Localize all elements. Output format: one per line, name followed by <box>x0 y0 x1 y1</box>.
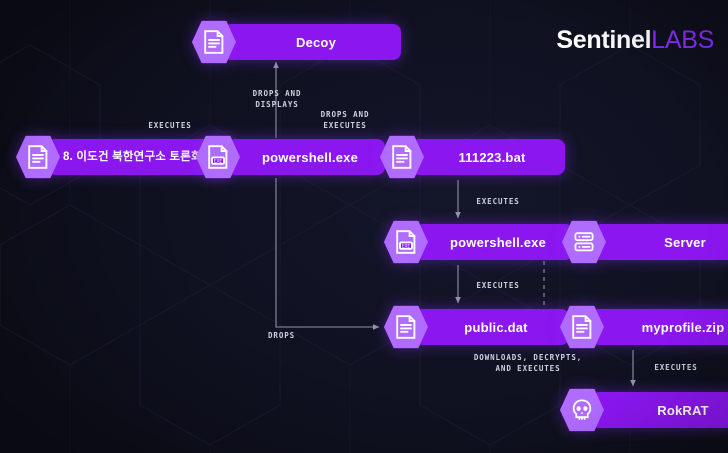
edge-label-executes-4: EXECUTES <box>646 362 706 373</box>
node-powershell-2[interactable]: EXE powershell.exe <box>384 222 573 262</box>
node-powershell-2-label: powershell.exe <box>415 224 573 260</box>
edge-label-downloads-decrypts-executes: DOWNLOADS, DECRYPTS, AND EXECUTES <box>464 352 592 374</box>
node-public-dat[interactable]: public.dat <box>384 307 569 347</box>
diagram-canvas: Decoy 8. 이도건 북한연 구소 토론회.lnk EXE powershe… <box>0 0 728 453</box>
sentinel-labs-logo: SentinelLABS <box>556 26 714 55</box>
logo-labs-text: LABS <box>651 26 714 54</box>
edge-label-executes-1: EXECUTES <box>140 120 200 131</box>
node-myprofile-zip[interactable]: myprofile.zip <box>560 307 728 347</box>
node-powershell-1-label: powershell.exe <box>227 139 385 175</box>
edge-label-drops: DROPS <box>268 330 312 341</box>
node-powershell-1[interactable]: EXE powershell.exe <box>196 137 385 177</box>
logo-sentinel-text: Sentinel <box>556 26 651 54</box>
node-111223-bat-label: 111223.bat <box>411 139 565 175</box>
node-server[interactable]: Server <box>562 222 728 262</box>
edge-label-drops-and-executes: DROPS AND EXECUTES <box>312 109 378 131</box>
node-rokrat-label: RokRAT <box>591 392 728 428</box>
edge-label-executes-2: EXECUTES <box>468 196 528 207</box>
node-decoy[interactable]: Decoy <box>192 22 401 62</box>
node-myprofile-zip-label: myprofile.zip <box>591 309 728 345</box>
node-111223-bat[interactable]: 111223.bat <box>380 137 565 177</box>
node-server-label: Server <box>593 224 728 260</box>
edge-label-drops-and-displays: DROPS AND DISPLAYS <box>246 88 308 110</box>
edge-label-executes-3: EXECUTES <box>468 280 528 291</box>
node-public-dat-label: public.dat <box>415 309 569 345</box>
node-rokrat[interactable]: RokRAT <box>560 390 728 430</box>
svg-text:EXE: EXE <box>402 243 411 249</box>
svg-text:EXE: EXE <box>214 158 223 164</box>
node-lnk-label-line1: 8. 이도건 북한연 <box>63 151 144 164</box>
node-decoy-label: Decoy <box>223 24 401 60</box>
